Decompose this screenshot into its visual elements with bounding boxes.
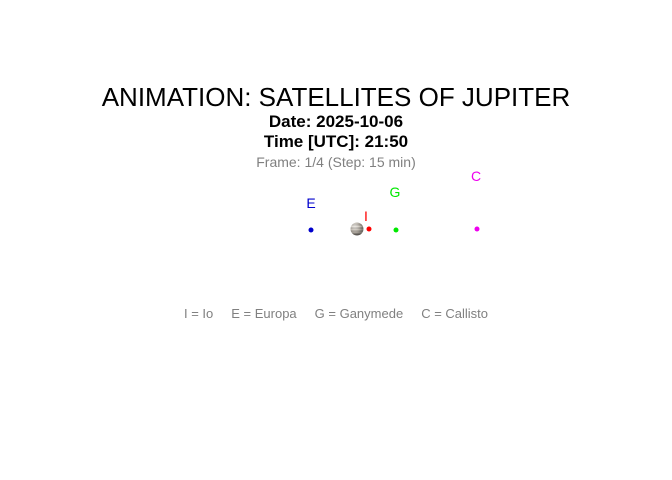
moon-dot-io <box>367 227 372 232</box>
moon-dot-callisto <box>475 227 480 232</box>
legend-entry-2: G = Ganymede <box>315 306 404 322</box>
moon-label-callisto: C <box>471 169 481 183</box>
jupiter-planet-icon <box>351 223 364 236</box>
legend-entry-3: C = Callisto <box>421 306 488 322</box>
legend-entry-0: I = Io <box>184 306 213 322</box>
moon-dot-ganymede <box>394 228 399 233</box>
orbital-plane: EIGC <box>0 0 672 480</box>
moon-label-europa: E <box>306 196 315 210</box>
moon-label-io: I <box>364 209 368 223</box>
animation-canvas: ANIMATION: SATELLITES OF JUPITER Date: 2… <box>0 0 672 480</box>
moon-dot-europa <box>309 228 314 233</box>
moon-label-ganymede: G <box>390 185 401 199</box>
legend-entry-1: E = Europa <box>231 306 296 322</box>
legend: I = IoE = EuropaG = GanymedeC = Callisto <box>0 306 672 322</box>
